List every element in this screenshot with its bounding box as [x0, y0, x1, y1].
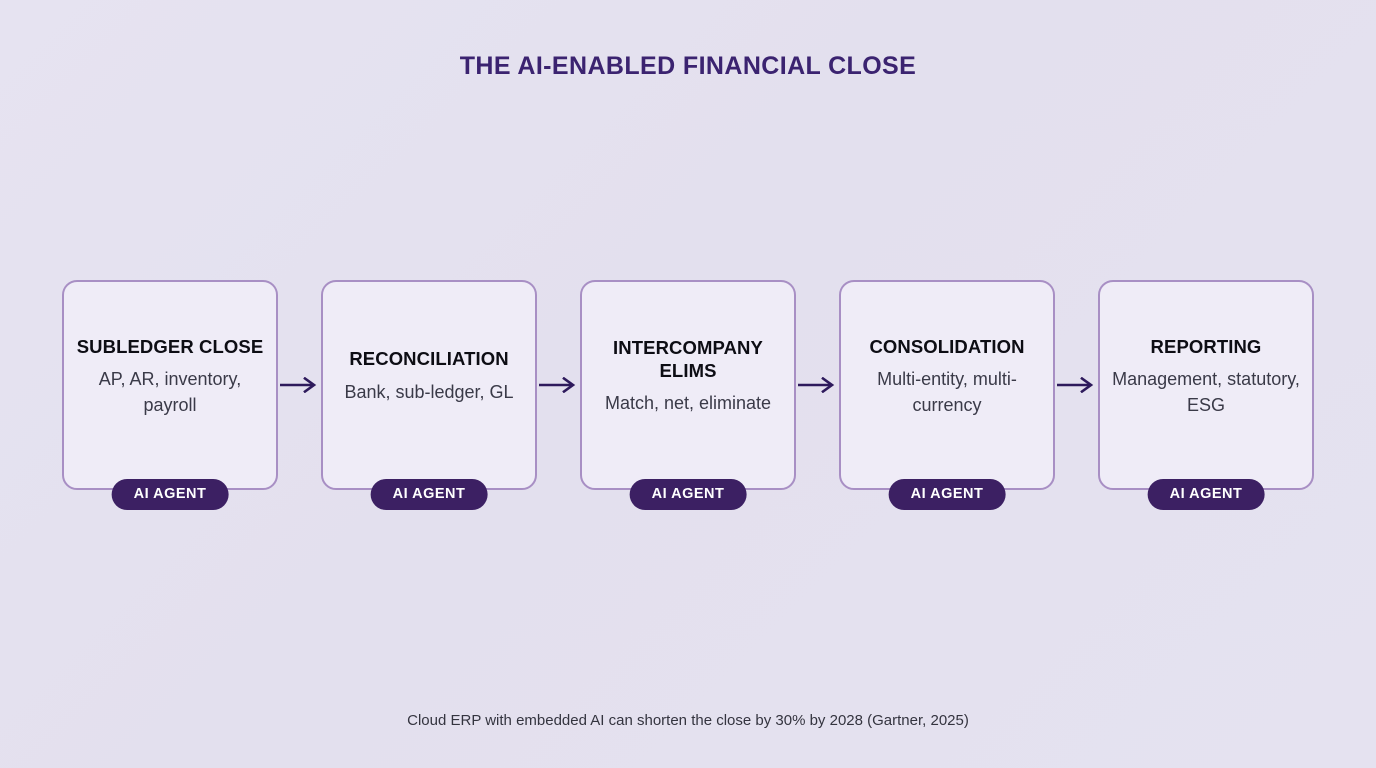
- arrow-right-icon: [278, 377, 321, 393]
- stage-card-subledger-close[interactable]: SUBLEDGER CLOSE AP, AR, inventory, payro…: [62, 280, 278, 490]
- stage-description: Multi-entity, multi-currency: [853, 367, 1041, 418]
- stage-description: Match, net, eliminate: [605, 391, 771, 417]
- ai-agent-badge: AI AGENT: [630, 479, 747, 511]
- stage-description: AP, AR, inventory, payroll: [76, 367, 264, 418]
- stage-title: RECONCILIATION: [349, 348, 508, 371]
- stage-description: Bank, sub-ledger, GL: [344, 380, 513, 406]
- stage-title: INTERCOMPANY ELIMS: [594, 337, 782, 382]
- stage-card-reconciliation[interactable]: RECONCILIATION Bank, sub-ledger, GL AI A…: [321, 280, 537, 490]
- connector-3: [796, 280, 839, 490]
- stage-card-consolidation[interactable]: CONSOLIDATION Multi-entity, multi-curren…: [839, 280, 1055, 490]
- stage-card-reporting[interactable]: REPORTING Management, statutory, ESG AI …: [1098, 280, 1314, 490]
- connector-1: [278, 280, 321, 490]
- page-title: THE AI-ENABLED FINANCIAL CLOSE: [0, 52, 1376, 81]
- stage-title: REPORTING: [1151, 336, 1262, 359]
- arrow-right-icon: [796, 377, 839, 393]
- footer-note: Cloud ERP with embedded AI can shorten t…: [0, 712, 1376, 729]
- stage-card-intercompany-elims[interactable]: INTERCOMPANY ELIMS Match, net, eliminate…: [580, 280, 796, 490]
- arrow-right-icon: [1055, 377, 1098, 393]
- ai-agent-badge: AI AGENT: [1148, 479, 1265, 511]
- ai-agent-badge: AI AGENT: [371, 479, 488, 511]
- ai-agent-badge: AI AGENT: [112, 479, 229, 511]
- connector-4: [1055, 280, 1098, 490]
- stage-description: Management, statutory, ESG: [1112, 367, 1300, 418]
- connector-2: [537, 280, 580, 490]
- process-flow: SUBLEDGER CLOSE AP, AR, inventory, payro…: [62, 280, 1314, 490]
- arrow-right-icon: [537, 377, 580, 393]
- diagram-canvas: THE AI-ENABLED FINANCIAL CLOSE SUBLEDGER…: [0, 0, 1376, 768]
- ai-agent-badge: AI AGENT: [889, 479, 1006, 511]
- stage-title: SUBLEDGER CLOSE: [77, 336, 264, 359]
- stage-title: CONSOLIDATION: [869, 336, 1024, 359]
